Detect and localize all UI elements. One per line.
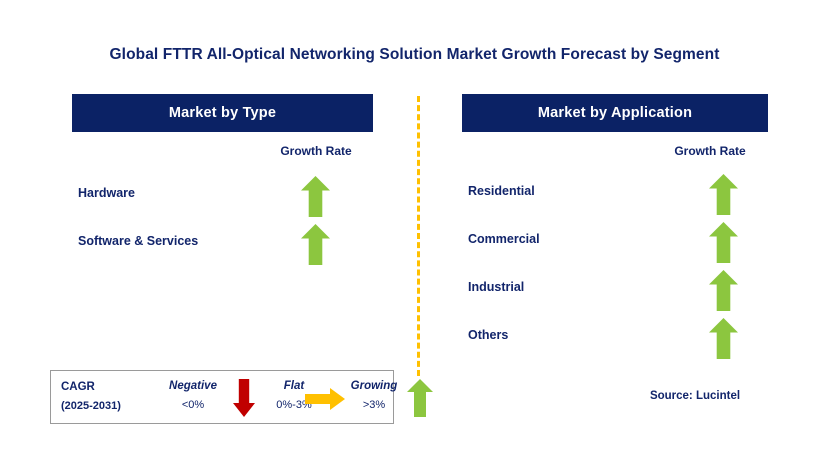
panel-header-label: Market by Application — [538, 105, 692, 121]
infographic-canvas: Global FTTR All-Optical Networking Solut… — [0, 0, 829, 468]
legend-cagr-block: CAGR (2025-2031) — [61, 378, 121, 416]
legend-item-range: >3% — [339, 396, 409, 415]
legend-arrow-up-cell — [403, 377, 437, 419]
segment-label: Industrial — [468, 280, 524, 294]
table-row: Others — [468, 318, 768, 362]
arrow-up-icon — [709, 270, 738, 311]
growth-arrow-cell — [703, 174, 743, 218]
legend-item-range: <0% — [159, 396, 227, 415]
growth-arrow-cell — [703, 222, 743, 266]
legend-item-growing: Growing >3% — [339, 377, 409, 415]
source-attribution: Source: Lucintel — [600, 390, 790, 402]
arrow-up-icon — [709, 222, 738, 263]
arrow-up-icon — [709, 318, 738, 359]
table-row: Software & Services — [78, 224, 373, 268]
segment-label: Hardware — [78, 186, 135, 200]
table-row: Residential — [468, 174, 768, 218]
segment-label: Residential — [468, 184, 535, 198]
table-row: Industrial — [468, 270, 768, 314]
panel-header-market-by-application: Market by Application — [462, 94, 768, 132]
arrow-up-icon — [301, 224, 330, 265]
arrow-up-icon — [301, 176, 330, 217]
legend-cagr-label: CAGR — [61, 381, 95, 393]
legend-cagr-years: (2025-2031) — [61, 400, 121, 412]
arrow-up-icon — [709, 174, 738, 215]
table-row: Hardware — [78, 176, 373, 220]
segment-label: Others — [468, 328, 508, 342]
table-row: Commercial — [468, 222, 768, 266]
cagr-legend: CAGR (2025-2031) Negative <0% Flat 0%-3%… — [50, 370, 394, 424]
arrow-down-icon — [233, 379, 255, 417]
panel-header-label: Market by Type — [169, 105, 276, 121]
growth-arrow-cell — [295, 176, 335, 220]
panel-header-market-by-type: Market by Type — [72, 94, 373, 132]
arrow-up-icon — [407, 379, 433, 417]
segment-label: Software & Services — [78, 234, 198, 248]
legend-item-name: Growing — [339, 377, 409, 396]
growth-arrow-cell — [703, 270, 743, 314]
segment-label: Commercial — [468, 232, 540, 246]
legend-arrow-down-cell — [229, 377, 259, 419]
growth-rate-header-left: Growth Rate — [256, 144, 376, 158]
growth-arrow-cell — [295, 224, 335, 268]
legend-item-name: Negative — [159, 377, 227, 396]
legend-item-negative: Negative <0% — [159, 377, 227, 415]
growth-rate-header-right: Growth Rate — [650, 144, 770, 158]
page-title: Global FTTR All-Optical Networking Solut… — [0, 46, 829, 64]
vertical-dashed-divider — [417, 96, 420, 376]
growth-arrow-cell — [703, 318, 743, 362]
